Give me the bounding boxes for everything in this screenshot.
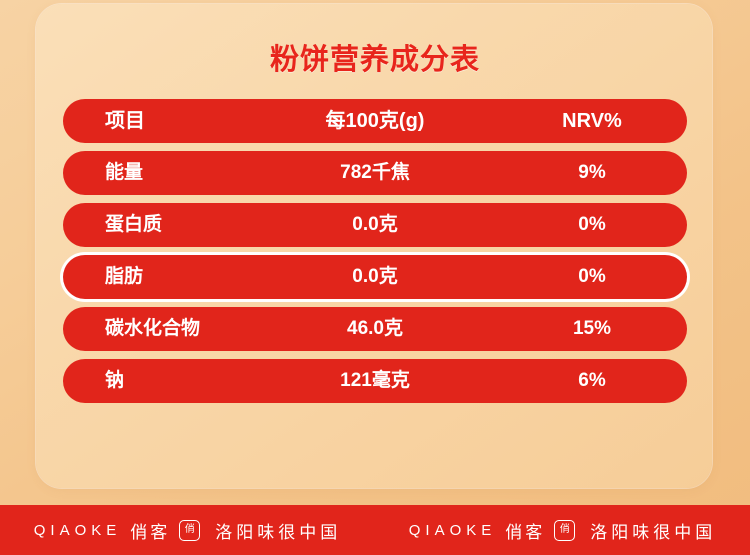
header-item: 项目 xyxy=(105,99,145,143)
row-item-label: 能量 xyxy=(105,151,143,195)
brand-latin-text: QIAOKE xyxy=(34,522,122,539)
header-nrv: NRV% xyxy=(517,99,667,143)
header-per-100g: 每100克(g) xyxy=(233,99,517,143)
row-item-value: 46.0克 xyxy=(233,307,517,351)
table-row[interactable]: 蛋白质 0.0克 0% xyxy=(63,203,687,247)
row-item-nrv: 0% xyxy=(517,255,667,299)
row-item-label: 脂肪 xyxy=(105,255,143,299)
nutrition-facts-page: 粉饼营养成分表 项目 每100克(g) NRV% 能量 782千焦 9% 蛋白质… xyxy=(0,0,750,555)
footer-brand-banner: QIAOKE 俏客 俏 洛阳味很中国 QIAOKE 俏客 俏 洛阳味很中国 xyxy=(0,505,750,555)
brand-slogan-text: 洛阳味很中国 xyxy=(590,518,716,543)
brand-unit: QIAOKE 俏客 俏 洛阳味很中国 xyxy=(375,518,750,543)
table-row[interactable]: 碳水化合物 46.0克 15% xyxy=(63,307,687,351)
brand-chinese-text: 俏客 xyxy=(130,518,170,543)
row-item-label: 碳水化合物 xyxy=(105,307,200,351)
row-item-value: 121毫克 xyxy=(233,359,517,403)
row-item-nrv: 15% xyxy=(517,307,667,351)
row-item-label: 蛋白质 xyxy=(105,203,162,247)
table-header-row: 项目 每100克(g) NRV% xyxy=(63,99,687,143)
table-row[interactable]: 能量 782千焦 9% xyxy=(63,151,687,195)
row-item-value: 0.0克 xyxy=(233,255,517,299)
row-item-label: 钠 xyxy=(105,359,124,403)
nutrition-table: 项目 每100克(g) NRV% 能量 782千焦 9% 蛋白质 0.0克 0%… xyxy=(63,99,687,411)
brand-latin-text: QIAOKE xyxy=(409,522,497,539)
row-item-value: 0.0克 xyxy=(233,203,517,247)
brand-unit: QIAOKE 俏客 俏 洛阳味很中国 xyxy=(0,518,375,543)
table-row[interactable]: 钠 121毫克 6% xyxy=(63,359,687,403)
row-item-nrv: 6% xyxy=(517,359,667,403)
page-title: 粉饼营养成分表 xyxy=(0,36,750,78)
brand-logo-icon: 俏 xyxy=(554,520,575,541)
brand-logo-icon: 俏 xyxy=(179,520,200,541)
table-row-selected[interactable]: 脂肪 0.0克 0% xyxy=(63,255,687,299)
row-item-value: 782千焦 xyxy=(233,151,517,195)
row-item-nrv: 0% xyxy=(517,203,667,247)
brand-slogan-text: 洛阳味很中国 xyxy=(215,518,341,543)
brand-chinese-text: 俏客 xyxy=(505,518,545,543)
row-item-nrv: 9% xyxy=(517,151,667,195)
